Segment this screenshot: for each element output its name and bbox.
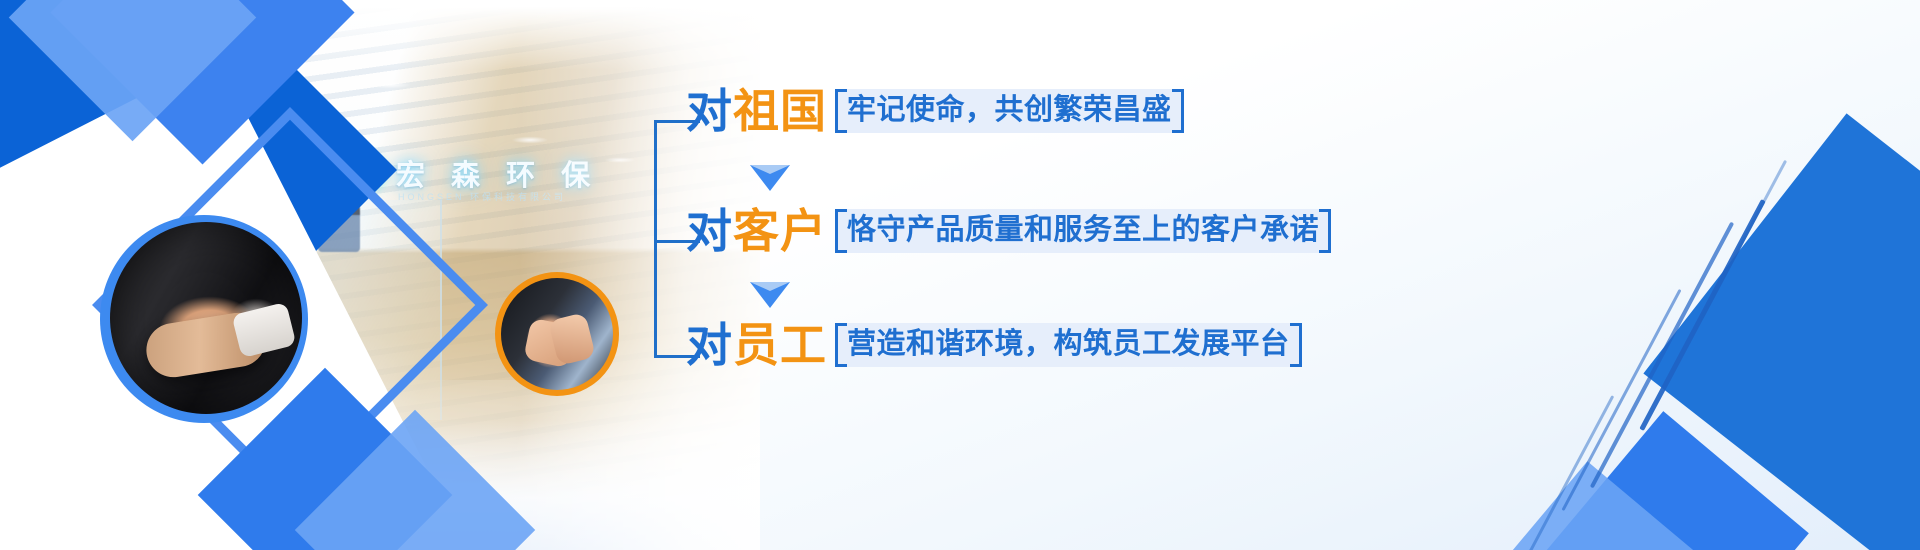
bracket-right-icon [1319, 209, 1331, 253]
commitment-statement-country: 牢记使命，共创繁荣昌盛 [835, 89, 1184, 133]
commitment-lede-customer: 对客户 [686, 208, 827, 254]
applause-photo [501, 278, 613, 390]
lede-subject: 客户 [733, 205, 827, 257]
statement-text: 恪守产品质量和服务至上的客户承诺 [847, 214, 1319, 246]
bracket-left-icon [835, 89, 847, 133]
bracket-left-icon [835, 323, 847, 367]
bracket-left-icon [835, 209, 847, 253]
statement-text: 营造和谐环境，构筑员工发展平台 [847, 328, 1290, 360]
bracket-right-icon [1172, 89, 1184, 133]
chevron-down-icon [750, 282, 790, 308]
commitment-row-country: 对祖国 牢记使命，共创繁荣昌盛 [686, 88, 1184, 134]
commitment-row-employee: 对员工 营造和谐环境，构筑员工发展平台 [686, 322, 1302, 368]
handshake-photo [110, 222, 302, 414]
commitment-statement-employee: 营造和谐环境，构筑员工发展平台 [835, 323, 1302, 367]
lede-prefix: 对 [686, 205, 733, 257]
lede-subject: 员工 [733, 319, 827, 371]
bracket-right-icon [1290, 323, 1302, 367]
commitment-statement-customer: 恪守产品质量和服务至上的客户承诺 [835, 209, 1331, 253]
company-values-banner: 宏 森 环 保 HONGSEN 环保科技有限公司 对祖国 [0, 0, 1920, 550]
commitment-spine [654, 120, 657, 358]
lede-prefix: 对 [686, 85, 733, 137]
commitment-list: 对祖国 牢记使命，共创繁荣昌盛 对客户 恪守产品质量和服务至上的客户承诺 [650, 0, 1370, 550]
lede-subject: 祖国 [733, 85, 827, 137]
lede-prefix: 对 [686, 319, 733, 371]
commitment-lede-employee: 对员工 [686, 322, 827, 368]
chevron-down-icon [750, 165, 790, 191]
commitment-lede-country: 对祖国 [686, 88, 827, 134]
commitment-row-customer: 对客户 恪守产品质量和服务至上的客户承诺 [686, 208, 1331, 254]
statement-text: 牢记使命，共创繁荣昌盛 [847, 94, 1172, 126]
